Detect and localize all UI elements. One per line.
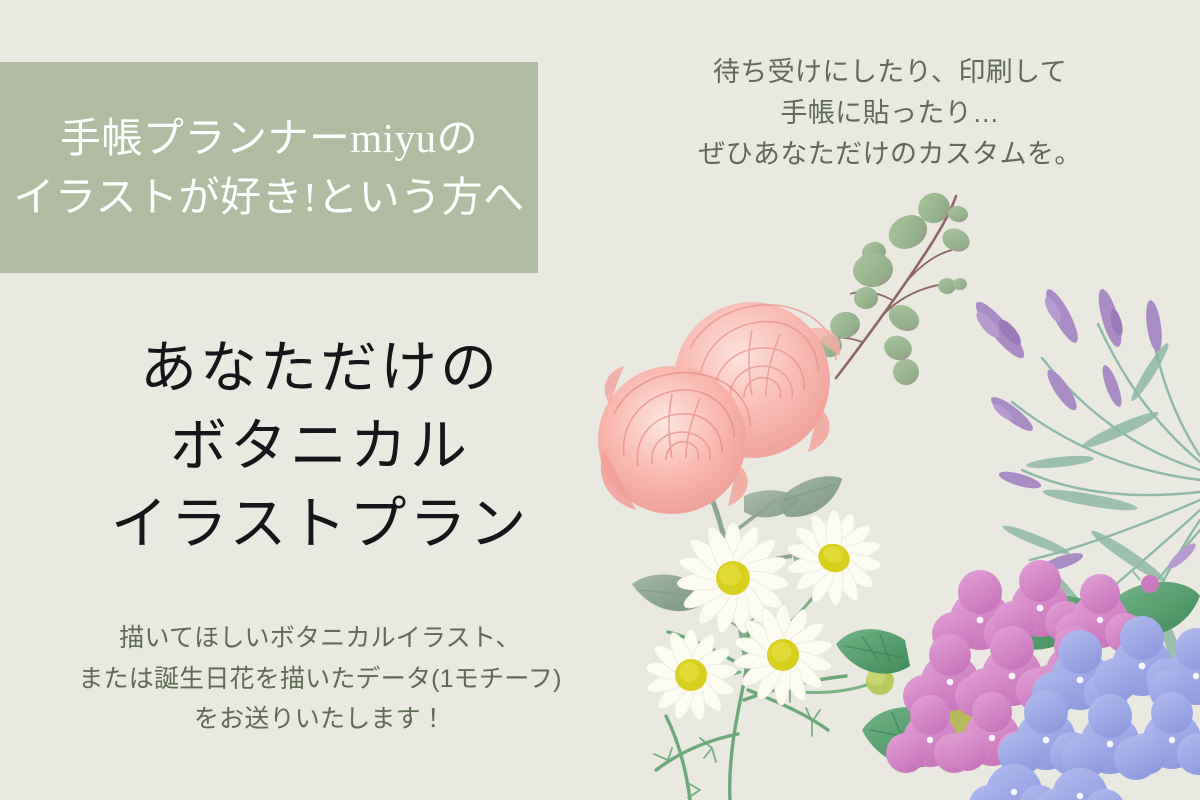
rose-stem-and-leaves <box>632 470 862 672</box>
hydrangea-pink <box>886 560 1145 773</box>
daisy-bud <box>866 667 894 695</box>
chamomile-daisies <box>644 495 897 800</box>
headline-line-2: ボタニカル <box>40 408 600 486</box>
daisy-flower <box>676 522 789 635</box>
lead-line-1: 待ち受けにしたり、印刷して <box>640 52 1140 93</box>
hydrangea-blue <box>969 616 1200 800</box>
pink-rose-lower <box>598 366 750 514</box>
page-title: あなただけの ボタニカル イラストプラン <box>40 330 600 564</box>
lead-line-3: ぜひあなただけのカスタムを。 <box>640 134 1140 175</box>
lead-line-2: 手帳に貼ったり… <box>640 93 1140 134</box>
hydrangea-cluster <box>836 560 1200 800</box>
daisy-flower <box>771 495 897 621</box>
headline-line-1: あなただけの <box>40 330 600 408</box>
hydrangea-stray-bud <box>1132 570 1159 593</box>
ribbon-line-2: イラストが好き!という方へ <box>13 168 524 226</box>
headline-line-3: イラストプラン <box>40 486 600 564</box>
pink-rose-upper <box>674 302 841 458</box>
description-copy: 描いてほしいボタニカルイラスト、 または誕生日花を描いたデータ(1モチーフ) を… <box>25 618 615 740</box>
lavender-spray <box>968 286 1200 713</box>
subcopy-line-1: 描いてほしいボタニカルイラスト、 <box>25 618 615 659</box>
daisy-flower <box>732 605 833 705</box>
banner-canvas: 手帳プランナーmiyuの イラストが好き!という方へ 待ち受けにしたり、印刷して… <box>0 0 1200 800</box>
lead-copy: 待ち受けにしたり、印刷して 手帳に貼ったり… ぜひあなただけのカスタムを。 <box>640 52 1140 175</box>
headline-ribbon: 手帳プランナーmiyuの イラストが好き!という方へ <box>0 62 538 273</box>
subcopy-line-2: または誕生日花を描いたデータ(1モチーフ) <box>25 659 615 700</box>
hydrangea-leaves <box>836 582 1200 767</box>
eucalyptus-branch <box>815 189 973 387</box>
ribbon-line-1: 手帳プランナーmiyuの <box>60 109 478 167</box>
subcopy-line-3: をお送りいたします！ <box>25 699 615 740</box>
daisy-flower <box>644 629 737 722</box>
